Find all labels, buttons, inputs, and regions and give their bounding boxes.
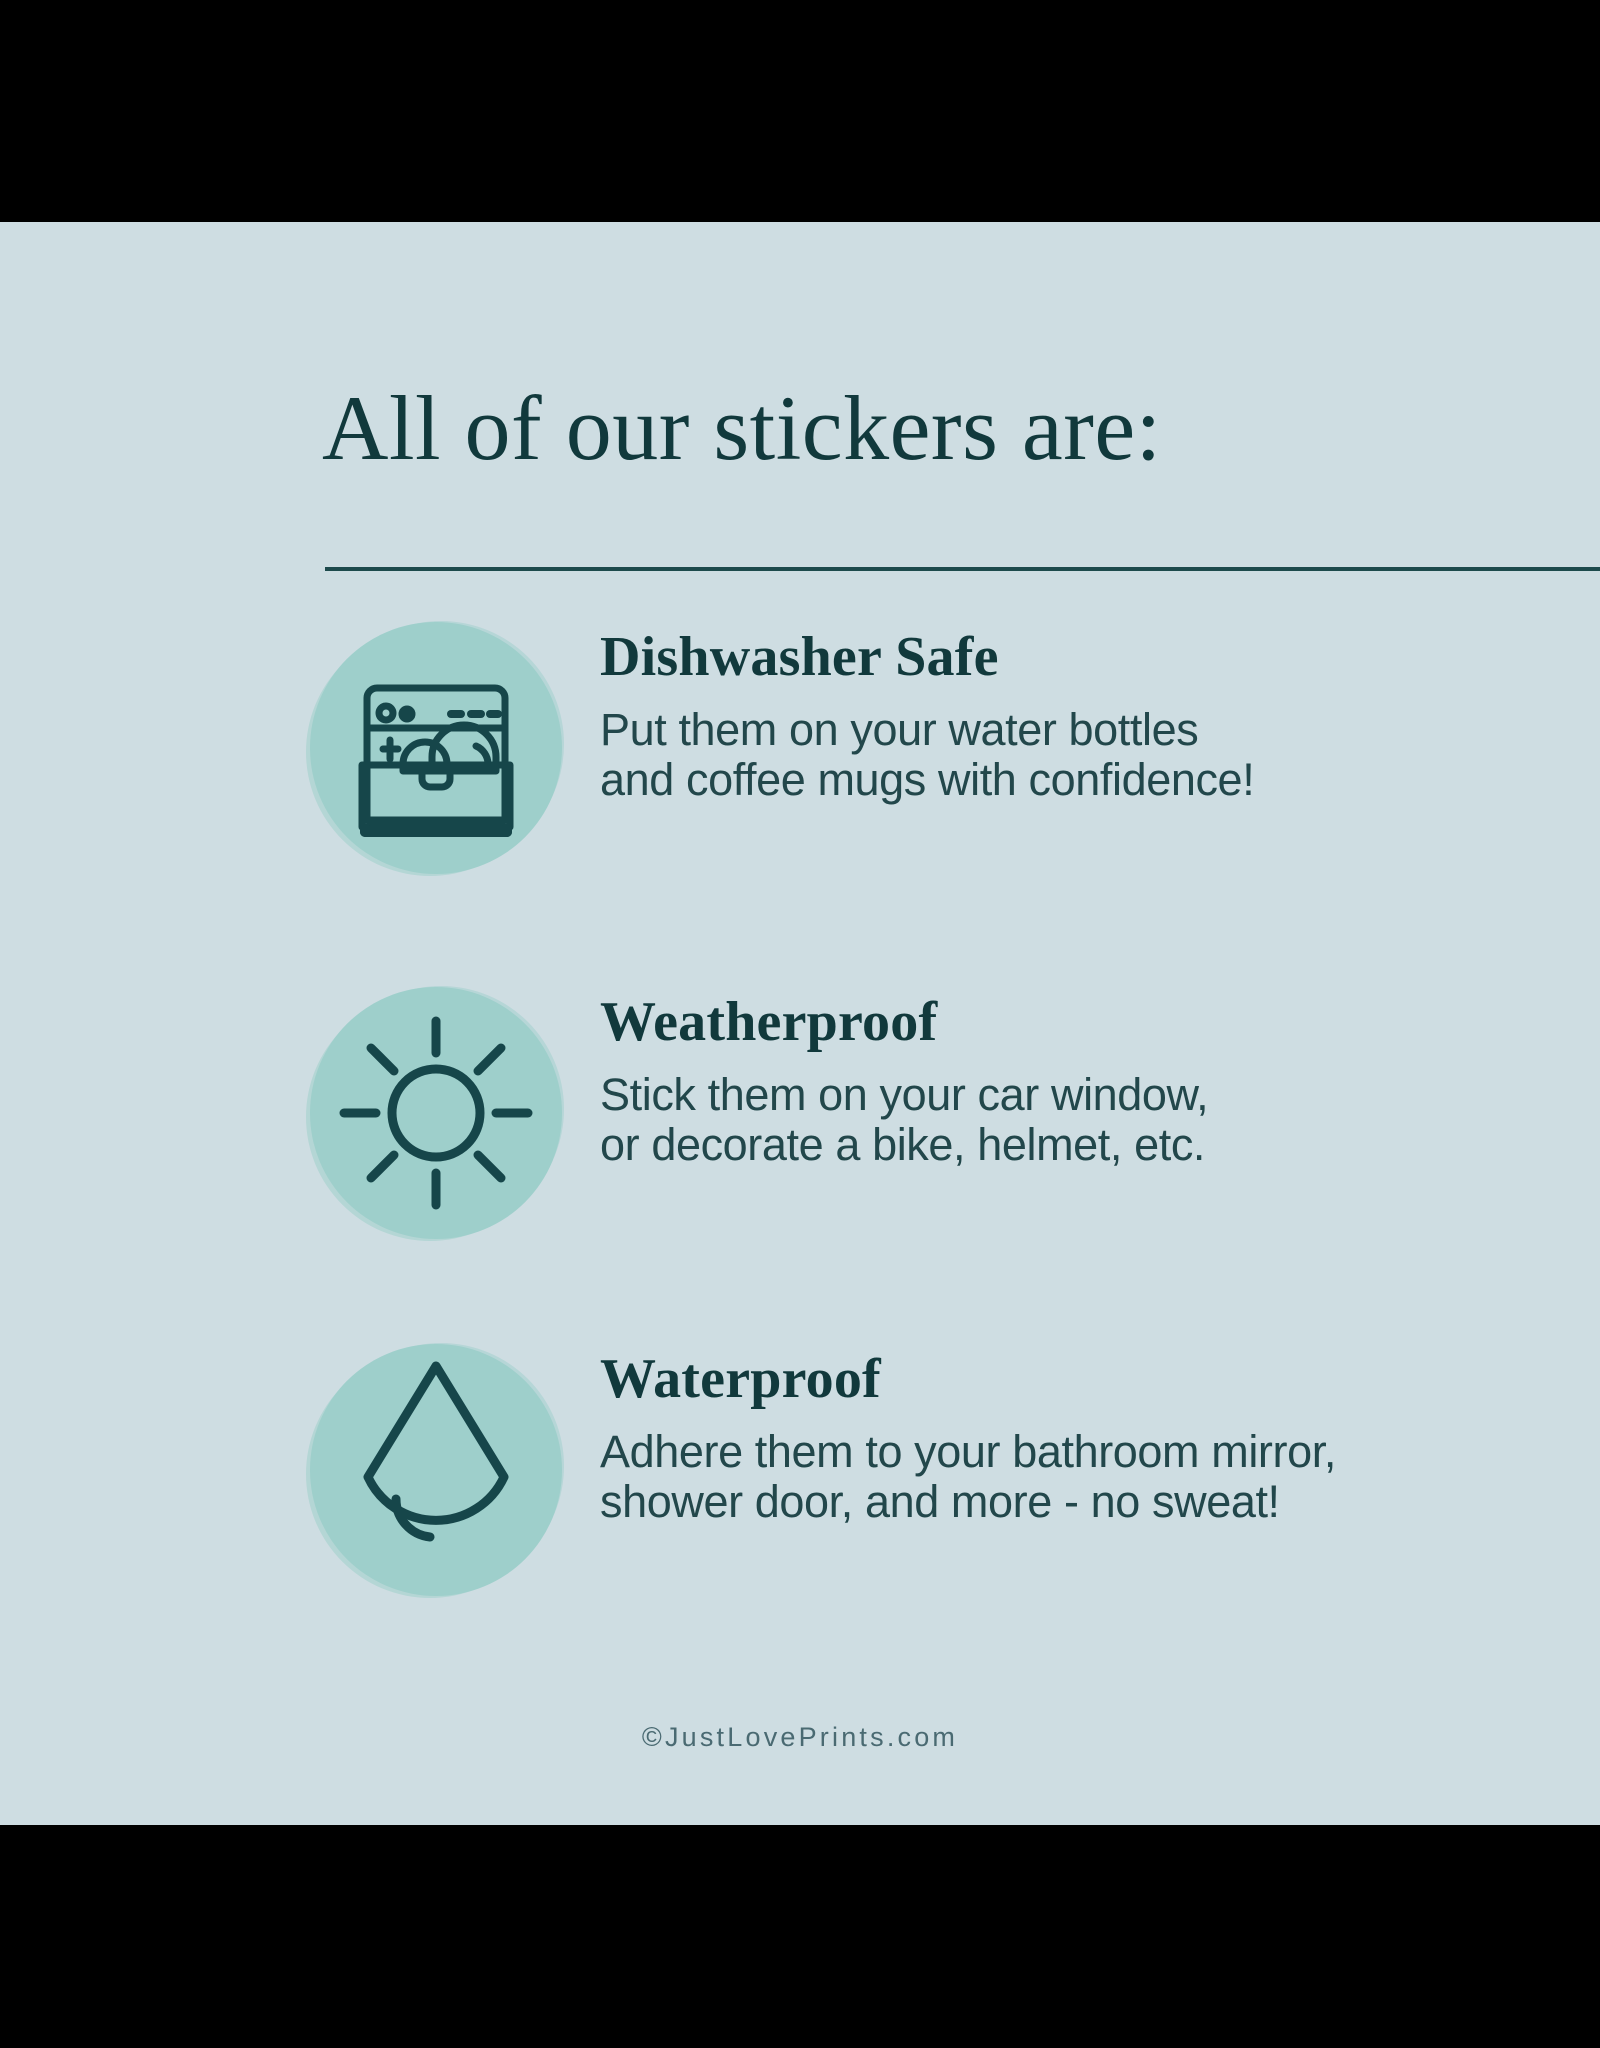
feature-text-waterproof: Waterproof Adhere them to your bathroom … [600, 1350, 1540, 1528]
feature-description: Stick them on your car window, or decora… [600, 1070, 1540, 1171]
feature-line: Put them on your water bottles [600, 705, 1540, 755]
sticker-info-card: All of our stickers are: [0, 222, 1600, 1825]
feature-line: or decorate a bike, helmet, etc. [600, 1120, 1540, 1170]
water-drop-icon [310, 1344, 562, 1596]
dishwasher-icon-badge [310, 622, 562, 874]
title-divider [325, 567, 1600, 571]
sun-icon-badge [310, 987, 562, 1239]
feature-line: and coffee mugs with confidence! [600, 755, 1540, 805]
screenshot-stage: All of our stickers are: [0, 0, 1600, 2048]
sun-icon [310, 987, 562, 1239]
feature-row-waterproof: Waterproof Adhere them to your bathroom … [0, 1344, 1600, 1624]
feature-line: Stick them on your car window, [600, 1070, 1540, 1120]
feature-line: Adhere them to your bathroom mirror, [600, 1427, 1540, 1477]
water-drop-icon-badge [310, 1344, 562, 1596]
feature-row-dishwasher-safe: Dishwasher Safe Put them on your water b… [0, 622, 1600, 902]
feature-text-dishwasher-safe: Dishwasher Safe Put them on your water b… [600, 628, 1540, 806]
letterbox-top-bar [0, 0, 1600, 222]
feature-description: Put them on your water bottles and coffe… [600, 705, 1540, 806]
feature-title: Weatherproof [600, 993, 1540, 1052]
dishwasher-icon [310, 622, 562, 874]
feature-description: Adhere them to your bathroom mirror, sho… [600, 1427, 1540, 1528]
page-title: All of our stickers are: [322, 382, 1162, 474]
letterbox-bottom-bar [0, 1825, 1600, 2048]
feature-title: Waterproof [600, 1350, 1540, 1409]
feature-text-weatherproof: Weatherproof Stick them on your car wind… [600, 993, 1540, 1171]
feature-line: shower door, and more - no sweat! [600, 1477, 1540, 1527]
feature-title: Dishwasher Safe [600, 628, 1540, 687]
footer-credit: ©JustLovePrints.com [0, 1722, 1600, 1753]
feature-row-weatherproof: Weatherproof Stick them on your car wind… [0, 987, 1600, 1267]
